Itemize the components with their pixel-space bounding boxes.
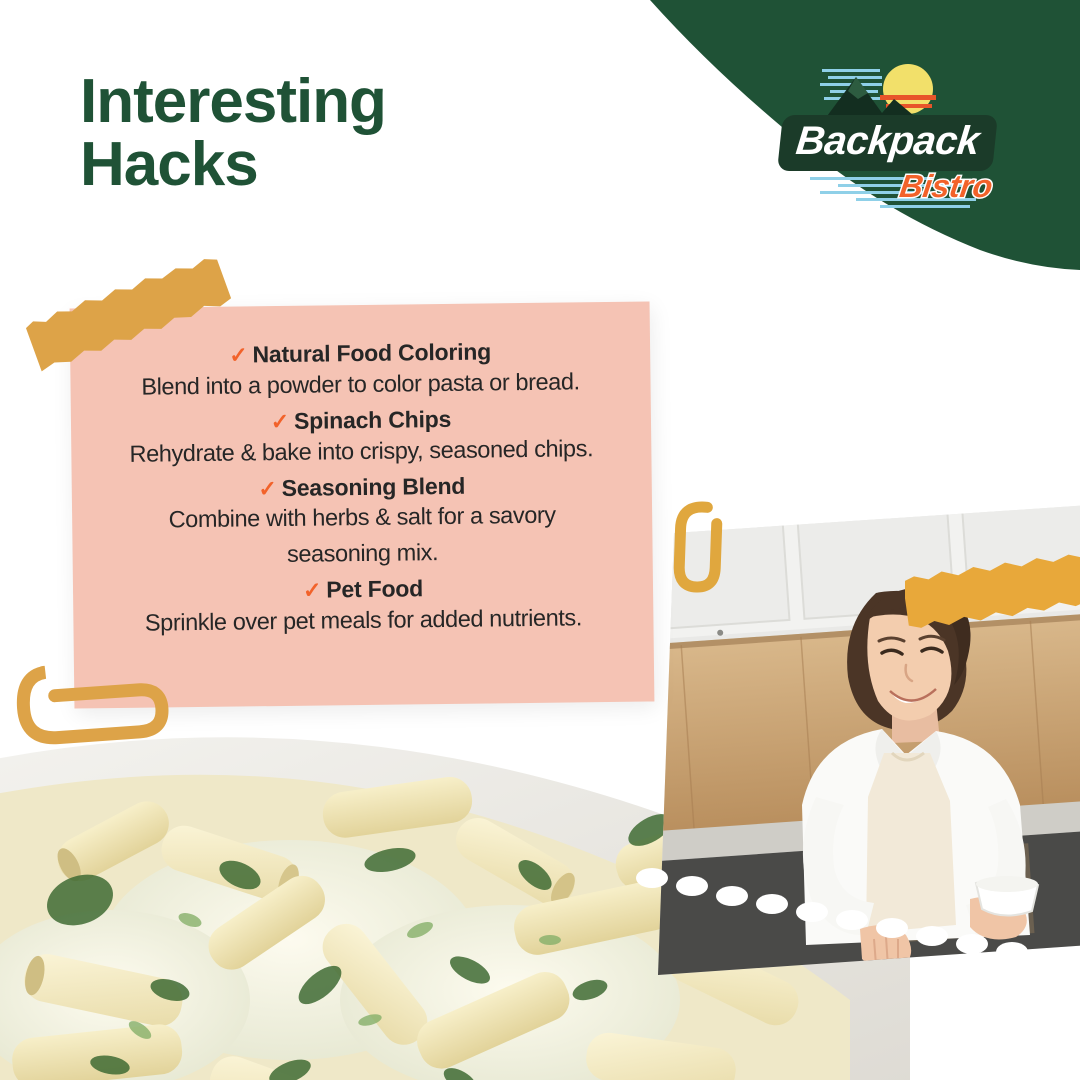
list-item-desc: Sprinkle over pet meals for added nutrie… bbox=[73, 601, 653, 646]
check-icon: ✓ bbox=[258, 476, 277, 501]
gold-tape-photo bbox=[905, 545, 1080, 640]
brand-logo[interactable]: Backpack Bistro bbox=[760, 55, 1030, 210]
logo-tagline: Bistro bbox=[898, 170, 995, 202]
check-icon: ✓ bbox=[303, 578, 322, 603]
gold-paperclip-bottom-left bbox=[12, 655, 177, 770]
list-item: ✓Spinach Chips Rehydrate & bake into cri… bbox=[71, 402, 652, 476]
poster-canvas: Interesting Hacks B bbox=[0, 0, 1080, 1080]
gold-paperclip-photo bbox=[662, 495, 732, 595]
list-item: ✓Seasoning Blend Combine with herbs & sa… bbox=[72, 469, 653, 579]
page-title: Interesting Hacks bbox=[80, 70, 600, 196]
gold-tape-top-left bbox=[22, 248, 237, 378]
logo-name: Backpack bbox=[777, 115, 998, 171]
list-item: ✓Pet Food Sprinkle over pet meals for ad… bbox=[73, 572, 654, 646]
page-title-line-2: Hacks bbox=[80, 133, 600, 196]
check-icon: ✓ bbox=[271, 409, 290, 434]
page-title-line-1: Interesting bbox=[80, 70, 600, 133]
